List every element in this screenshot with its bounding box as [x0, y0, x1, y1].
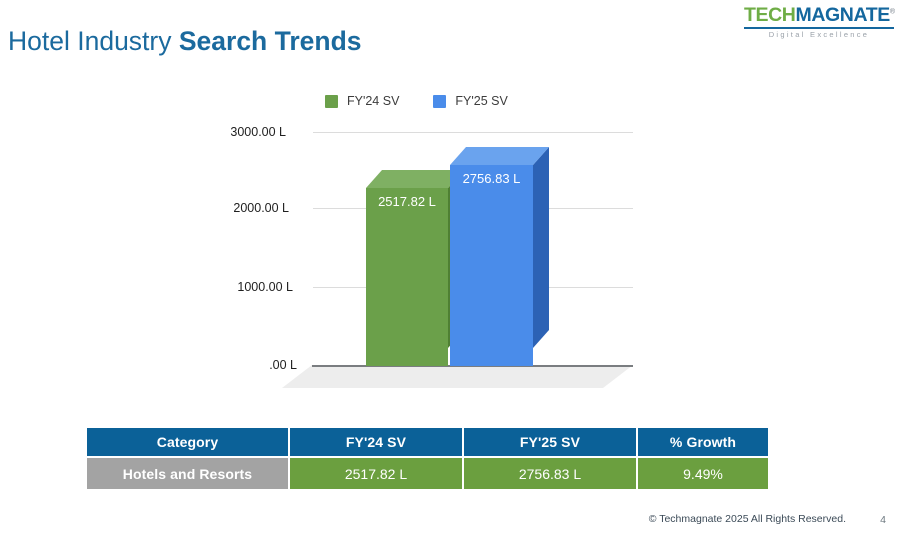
- search-volume-table: Category FY'24 SV FY'25 SV % Growth Hote…: [85, 426, 770, 491]
- gridline-3000: [313, 132, 633, 133]
- logo-word-tech: TECH: [744, 4, 795, 26]
- bar-fy24-front: [366, 188, 448, 366]
- logo-tagline: Digital Excellence: [744, 31, 894, 39]
- techmagnate-logo: TECHMAGNATE® Digital Excellence: [744, 6, 894, 39]
- y-axis-label-2000: 2000.00 L: [199, 201, 289, 215]
- y-axis-label-0: .00 L: [207, 358, 297, 372]
- bar-fy25-front: [450, 165, 533, 366]
- bar-fy24-value-label: 2517.82 L: [366, 194, 448, 209]
- bar-fy25[interactable]: 2756.83 L: [450, 147, 549, 366]
- table-header-growth[interactable]: % Growth: [638, 428, 768, 456]
- y-axis-label-1000: 1000.00 L: [203, 280, 293, 294]
- table-row: Hotels and Resorts 2517.82 L 2756.83 L 9…: [87, 458, 768, 489]
- logo-divider: [744, 27, 894, 29]
- page-title-bold: Search Trends: [179, 26, 362, 56]
- logo-wordmark: TECHMAGNATE®: [744, 6, 894, 26]
- slide-canvas: TECHMAGNATE® Digital Excellence Hotel In…: [0, 0, 901, 537]
- y-axis-label-3000: 3000.00 L: [196, 125, 286, 139]
- table-cell-fy25-sv: 2756.83 L: [464, 458, 636, 489]
- page-number: 4: [880, 514, 886, 526]
- table-cell-fy24-sv: 2517.82 L: [290, 458, 462, 489]
- bar-fy25-value-label: 2756.83 L: [450, 171, 533, 186]
- logo-word-magnate: MAGNATE: [795, 4, 889, 26]
- bar-fy25-side: [533, 147, 549, 348]
- table-header-row: Category FY'24 SV FY'25 SV % Growth: [87, 428, 768, 456]
- page-title: Hotel Industry Search Trends: [8, 26, 362, 57]
- table-header-category[interactable]: Category: [87, 428, 288, 456]
- search-volume-bar-chart: FY'24 SV FY'25 SV 3000.00 L 2000.00 L 10…: [0, 80, 901, 410]
- chart-plot-area: 3000.00 L 2000.00 L 1000.00 L .00 L 2517…: [0, 80, 901, 410]
- table-cell-growth: 9.49%: [638, 458, 768, 489]
- table-cell-category: Hotels and Resorts: [87, 458, 288, 489]
- table-header-fy24-sv[interactable]: FY'24 SV: [290, 428, 462, 456]
- chart-floor-plane: [282, 365, 633, 388]
- page-title-light: Hotel Industry: [8, 26, 179, 56]
- registered-trademark-icon: ®: [890, 9, 895, 16]
- table-header-fy25-sv[interactable]: FY'25 SV: [464, 428, 636, 456]
- footer-copyright: © Techmagnate 2025 All Rights Reserved.: [649, 513, 846, 525]
- bar-fy25-top: [450, 147, 549, 165]
